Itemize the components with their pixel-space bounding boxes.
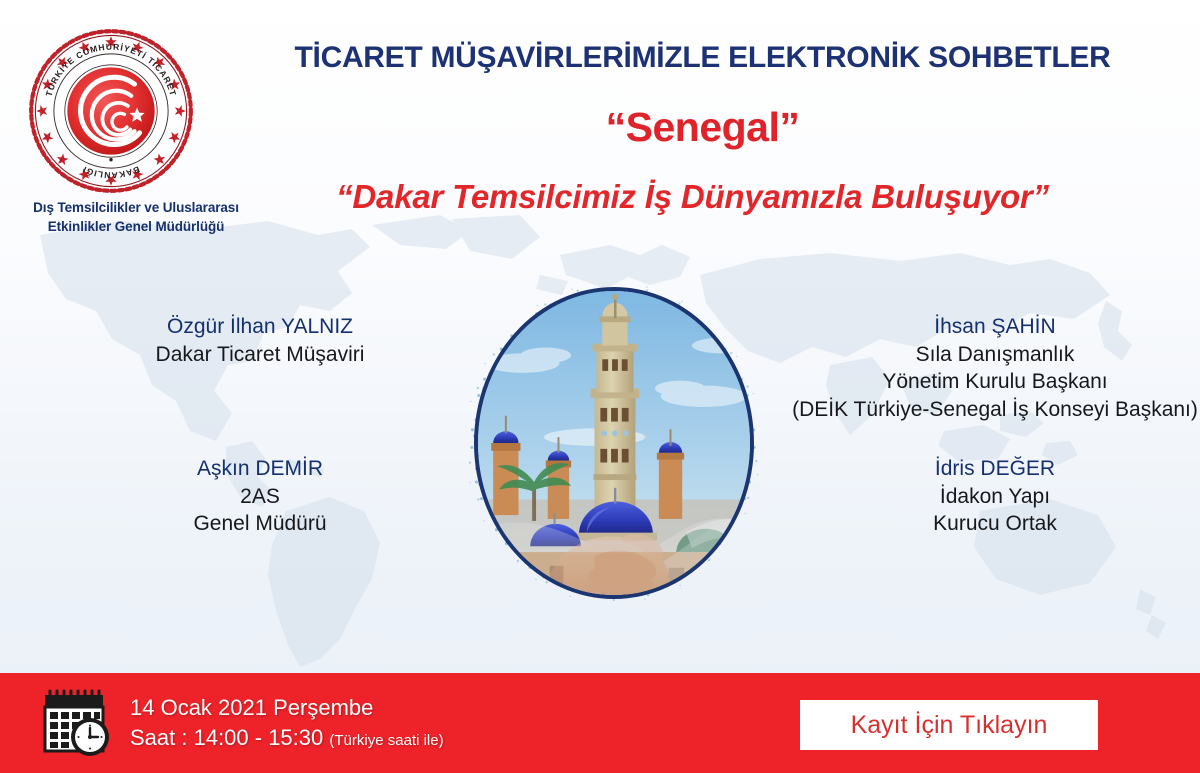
event-poster: TÜRKİYE CUMHURİYETİ TİCARET BAKANLIĞI bbox=[0, 0, 1200, 773]
speaker-role-line2: Kurucu Ortak bbox=[790, 510, 1200, 538]
event-time: Saat : 14:00 - 15:30 (Türkiye saati ile) bbox=[130, 723, 444, 753]
speaker-role-line3: (DEİK Türkiye-Senegal İş Konseyi Başkanı… bbox=[790, 396, 1200, 424]
ministry-seal-icon: TÜRKİYE CUMHURİYETİ TİCARET BAKANLIĞI bbox=[27, 27, 195, 195]
speaker-name: Aşkın DEMİR bbox=[90, 455, 430, 483]
speaker-card-left-2: Aşkın DEMİR 2AS Genel Müdürü bbox=[90, 455, 430, 538]
speaker-role-line1: Dakar Ticaret Müşaviri bbox=[90, 341, 430, 369]
country-title: “Senegal” bbox=[210, 104, 1195, 151]
mosque-photo-circle bbox=[474, 287, 754, 599]
speaker-name: İdris DEĞER bbox=[790, 455, 1200, 483]
speaker-role-line1: İdakon Yapı bbox=[790, 483, 1200, 511]
speaker-role-line1: 2AS bbox=[90, 483, 430, 511]
event-time-label: Saat : 14:00 - 15:30 bbox=[130, 725, 323, 750]
register-button-label: Kayıt İçin Tıklayın bbox=[851, 711, 1048, 740]
emblem-caption-line2: Etkinlikler Genel Müdürlüğü bbox=[6, 218, 266, 237]
register-button[interactable]: Kayıt İçin Tıklayın bbox=[800, 700, 1098, 750]
speaker-card-right-2: İdris DEĞER İdakon Yapı Kurucu Ortak bbox=[790, 455, 1200, 538]
event-date: 14 Ocak 2021 Perşembe bbox=[130, 693, 444, 723]
speaker-card-right-1: İhsan ŞAHİN Sıla Danışmanlık Yönetim Kur… bbox=[790, 313, 1200, 424]
speaker-role-line1: Sıla Danışmanlık bbox=[790, 341, 1200, 369]
page-title: TİCARET MÜŞAVİRLERİMİZLE ELEKTRONİK SOHB… bbox=[210, 41, 1195, 75]
event-timezone-note: (Türkiye saati ile) bbox=[329, 732, 443, 749]
speaker-name: İhsan ŞAHİN bbox=[790, 313, 1200, 341]
speaker-role-line2: Genel Müdürü bbox=[90, 510, 430, 538]
touba-mosque-handshake-photo bbox=[478, 291, 750, 595]
speaker-role-line2: Yönetim Kurulu Başkanı bbox=[790, 368, 1200, 396]
calendar-clock-icon bbox=[40, 687, 112, 759]
central-media bbox=[438, 257, 788, 629]
subtitle: “Dakar Temsilcimiz İş Dünyamızla Buluşuy… bbox=[190, 178, 1195, 216]
event-datetime: 14 Ocak 2021 Perşembe Saat : 14:00 - 15:… bbox=[130, 693, 444, 752]
speaker-card-left-1: Özgür İlhan YALNIZ Dakar Ticaret Müşavir… bbox=[90, 313, 430, 368]
speaker-name: Özgür İlhan YALNIZ bbox=[90, 313, 430, 341]
